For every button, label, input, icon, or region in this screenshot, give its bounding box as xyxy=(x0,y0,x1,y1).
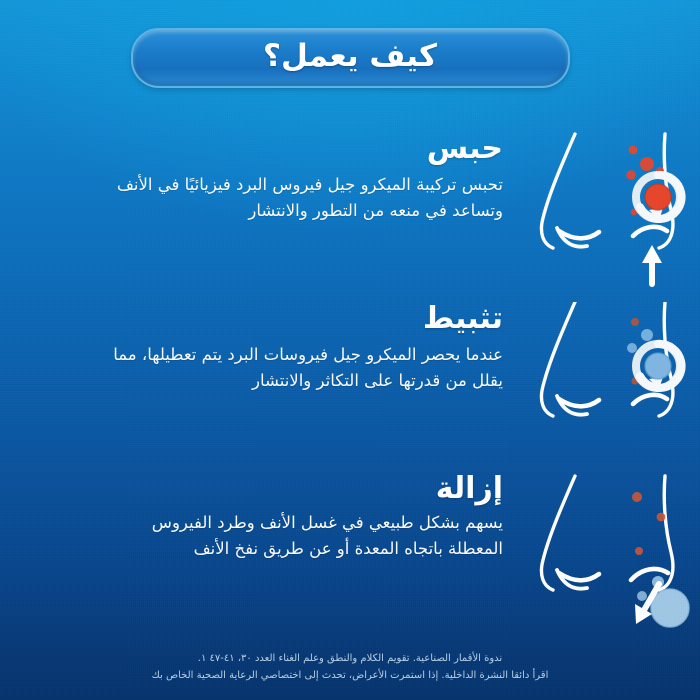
virus-particle-small xyxy=(626,170,636,180)
virus-particle-inactive xyxy=(641,329,653,341)
virus-particle-inactive xyxy=(627,343,637,353)
section-inhibit-heading: تثبيط xyxy=(92,302,503,336)
nose-inhibit-illustration xyxy=(513,302,698,467)
virus-particle-small xyxy=(629,146,638,155)
nose-septum-left-path xyxy=(559,399,599,406)
section-remove-heading: إزالة xyxy=(92,472,503,506)
footer: ندوة الأقمار الصناعية. تقويم الكلام والن… xyxy=(0,651,700,684)
virus-particle-inactive xyxy=(637,591,647,601)
section-trap-body: تحبس تركيبة الميكرو جيل فيروس البرد فيزي… xyxy=(92,172,503,225)
microgel-ring xyxy=(636,175,682,220)
microgel-ring xyxy=(636,344,682,389)
section-inhibit: تثبيط عندما يحصر الميكرو جيل فيروسات الب… xyxy=(0,302,700,467)
section-inhibit-body: عندما يحصر الميكرو جيل فيروسات البرد يتم… xyxy=(92,342,503,395)
footer-disclaimer-line: اقرأ دائقا النشرة الداخلية. إذا استمرت ا… xyxy=(28,668,672,685)
section-inhibit-copy: تثبيط عندما يحصر الميكرو جيل فيروسات الب… xyxy=(0,302,513,395)
nose-septum-left-path xyxy=(559,231,599,238)
section-trap-heading: حبس xyxy=(92,132,503,166)
virus-particle-small xyxy=(657,513,666,522)
virus-particle-group xyxy=(632,492,665,555)
title-area: كيف يعمل؟ xyxy=(0,28,700,88)
expelled-gel-blob xyxy=(637,576,689,627)
virus-particle-medium xyxy=(640,157,654,171)
nose-septum-left-path xyxy=(559,573,599,580)
virus-particle-small xyxy=(632,492,642,502)
section-trap: حبس تحبس تركيبة الميكرو جيل فيروس البرد … xyxy=(0,132,700,297)
virus-particle-small xyxy=(635,547,643,555)
infographic-poster: كيف يعمل؟ xyxy=(0,0,700,700)
section-remove: إزالة يسهم بشكل طبيعي في غسل الأنف وطرد … xyxy=(0,472,700,647)
nose-remove-illustration xyxy=(513,472,698,647)
virus-particle-small xyxy=(631,318,639,326)
footer-reference-line: ندوة الأقمار الصناعية. تقويم الكلام والن… xyxy=(28,651,672,668)
section-remove-body: يسهم بشكل طبيعي في غسل الأنف وطرد الفيرو… xyxy=(92,510,503,563)
nose-right-nostril-path xyxy=(633,227,667,236)
page-title: كيف يعمل؟ xyxy=(263,41,437,75)
title-pill: كيف يعمل؟ xyxy=(131,28,570,88)
section-remove-copy: إزالة يسهم بشكل طبيعي في غسل الأنف وطرد … xyxy=(0,472,513,563)
nose-trap-illustration xyxy=(513,132,698,297)
arrow-up-icon xyxy=(642,245,662,284)
section-trap-copy: حبس تحبس تركيبة الميكرو جيل فيروس البرد … xyxy=(0,132,513,225)
nose-right-nostril-path xyxy=(633,395,667,404)
